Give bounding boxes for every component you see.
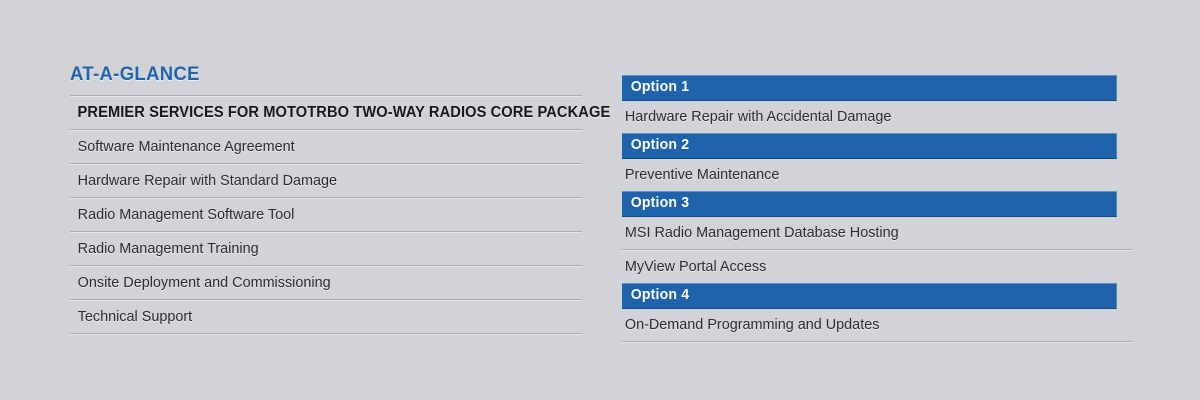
option-header: Option 3 (622, 191, 1117, 217)
option-header: Option 2 (622, 133, 1117, 159)
list-item: Technical Support (70, 301, 562, 333)
divider (622, 341, 1132, 343)
core-package-panel: AT-A-GLANCE PREMIER SERVICES FOR MOTOTRB… (70, 64, 582, 335)
core-package-header: PREMIER SERVICES FOR MOTOTRBO TWO-WAY RA… (70, 97, 554, 129)
list-item: Hardware Repair with Accidental Damage (622, 101, 1112, 133)
list-item: Software Maintenance Agreement (70, 131, 562, 163)
list-item: On-Demand Programming and Updates (622, 309, 1112, 341)
list-item: MSI Radio Management Database Hosting (622, 217, 1112, 249)
page-title: AT-A-GLANCE (70, 64, 567, 86)
divider (70, 333, 582, 335)
options-panel: Option 1 Hardware Repair with Accidental… (622, 75, 1132, 343)
at-a-glance-sheet: AT-A-GLANCE PREMIER SERVICES FOR MOTOTRB… (0, 0, 1200, 400)
list-item: Radio Management Software Tool (70, 199, 562, 231)
list-item: MyView Portal Access (622, 251, 1112, 283)
list-item: Radio Management Training (70, 233, 562, 265)
option-header: Option 1 (622, 75, 1117, 101)
option-header: Option 4 (622, 283, 1117, 309)
list-item: Hardware Repair with Standard Damage (70, 165, 562, 197)
list-item: Onsite Deployment and Commissioning (70, 267, 562, 299)
list-item: Preventive Maintenance (622, 159, 1112, 191)
